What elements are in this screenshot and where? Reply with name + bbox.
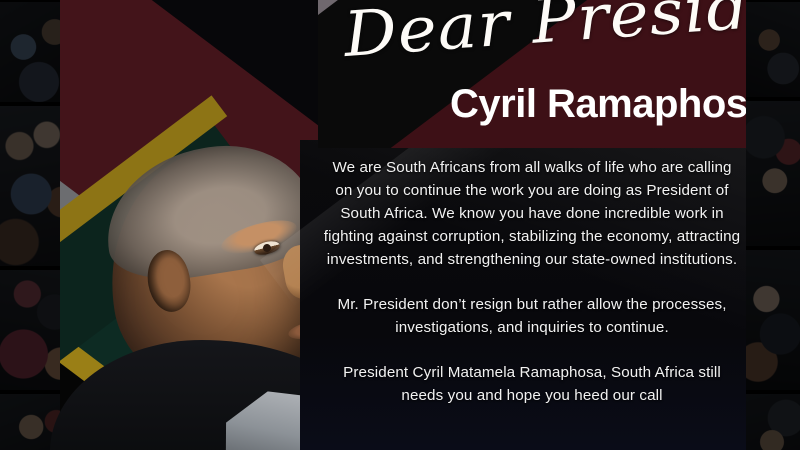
header-banner: Dear President Cyril Ramaphosa — [318, 0, 746, 148]
photo-frame — [744, 392, 800, 450]
letter-body: We are South Africans from all walks of … — [322, 156, 742, 407]
right-photo-filmstrip — [744, 0, 800, 450]
photo-frame — [744, 0, 800, 99]
letter-paragraph-2: Mr. President don’t resign but rather al… — [322, 293, 742, 339]
letter-paragraph-3: President Cyril Matamela Ramaphosa, Sout… — [322, 361, 742, 407]
script-headline: Dear President — [341, 0, 746, 71]
photo-frame — [744, 248, 800, 392]
poster-root: Dear President Cyril Ramaphosa We are So… — [0, 0, 800, 450]
president-name-headline: Cyril Ramaphosa — [450, 82, 746, 127]
photo-frame — [744, 99, 800, 248]
letter-paragraph-1: We are South Africans from all walks of … — [322, 156, 742, 271]
